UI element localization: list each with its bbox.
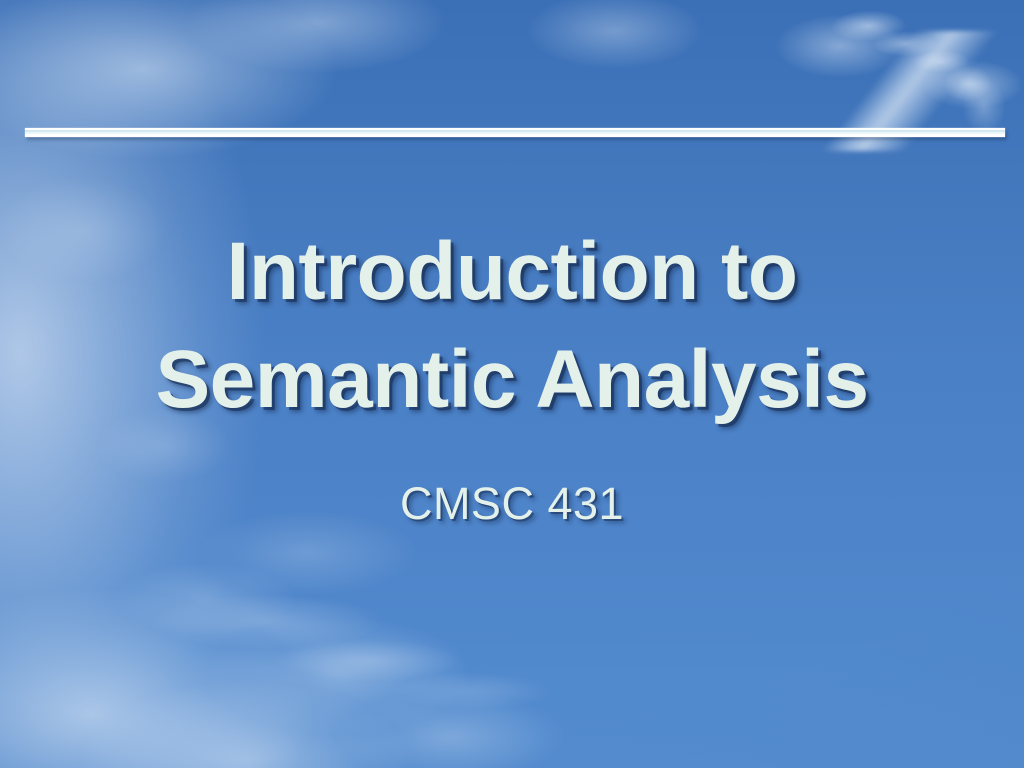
slide-title: Introduction to Semantic Analysis bbox=[0, 218, 1024, 434]
title-divider-rule bbox=[25, 128, 1005, 139]
title-line-1: Introduction to bbox=[0, 218, 1024, 326]
slide-subtitle: CMSC 431 bbox=[0, 476, 1024, 532]
subtitle-text: CMSC 431 bbox=[0, 476, 1024, 532]
presentation-slide: Introduction to Semantic Analysis CMSC 4… bbox=[0, 0, 1024, 768]
title-line-2: Semantic Analysis bbox=[0, 326, 1024, 434]
divider-bar bbox=[25, 128, 1005, 137]
